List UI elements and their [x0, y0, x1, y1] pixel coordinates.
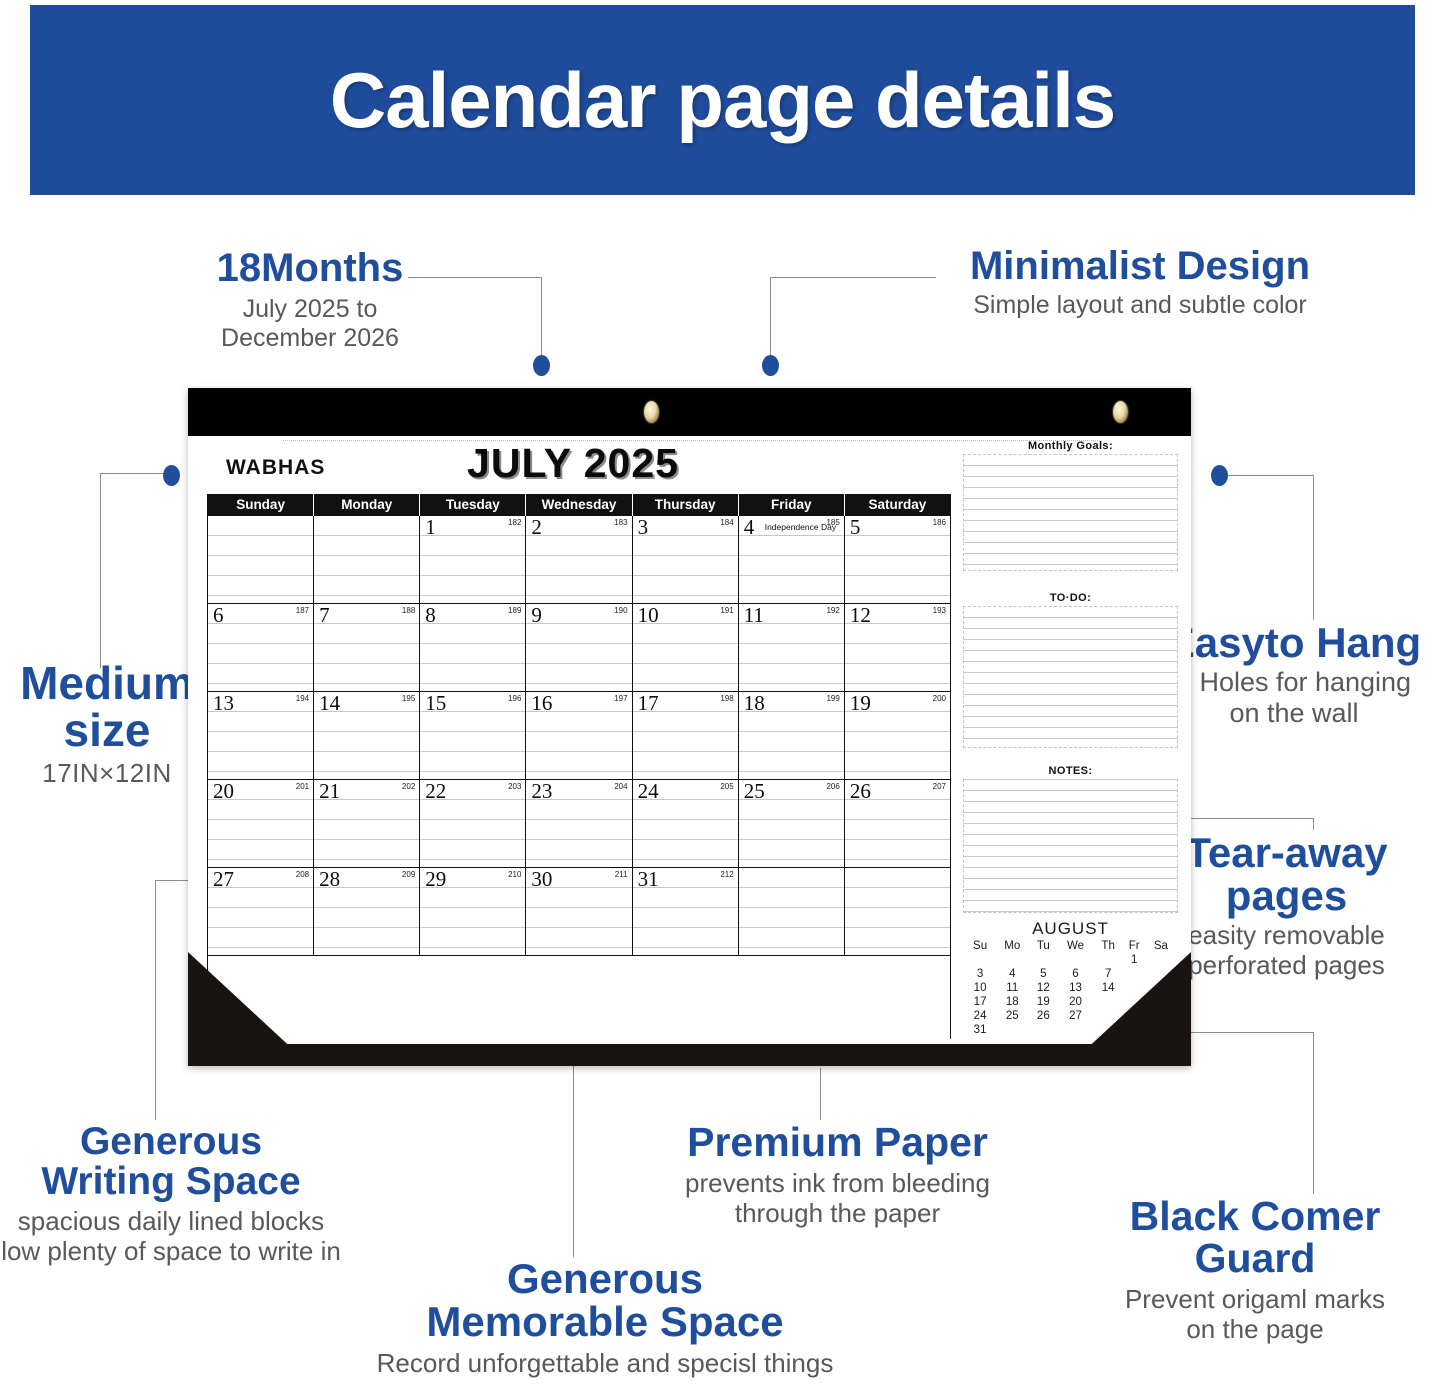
calendar-day-cell-30[interactable]: 30211 — [526, 868, 632, 955]
callout-minimalist-design: Minimalist Design Simple layout and subt… — [900, 246, 1380, 320]
mini-calendar-day-4: 4 — [995, 967, 1029, 981]
calendar-day-number: 7 — [319, 605, 330, 626]
calendar-julian-day-number: 206 — [826, 782, 839, 791]
leader-line-corner-v — [1313, 1032, 1314, 1194]
calendar-sheet: WABHAS JULY 2025 Sunday Monday Tuesday W… — [188, 388, 1191, 1066]
calendar-julian-day-number: 182 — [508, 518, 521, 527]
calendar-day-cell-7[interactable]: 7188 — [314, 604, 420, 691]
month-grid: Sunday Monday Tuesday Wednesday Thursday… — [207, 494, 951, 1039]
calendar-day-number: 15 — [425, 693, 446, 714]
mini-calendar-weekday-tu: Tu — [1029, 939, 1057, 953]
calendar-day-number: 10 — [638, 605, 659, 626]
calendar-day-cell-empty[interactable] — [208, 516, 314, 603]
callout-corner-heading: Black ComerGuard — [1065, 1196, 1445, 1280]
calendar-week-row: 1182218331844185Independence Day5186 — [208, 516, 950, 604]
weekday-header-wednesday: Wednesday — [526, 494, 632, 516]
mini-calendar-day-12: 12 — [1029, 981, 1057, 995]
calendar-day-number: 1 — [425, 517, 436, 538]
calendar-julian-day-number: 197 — [614, 694, 627, 703]
calendar-day-cell-10[interactable]: 10191 — [633, 604, 739, 691]
calendar-julian-day-number: 203 — [508, 782, 521, 791]
calendar-day-cell-31[interactable]: 31212 — [633, 868, 739, 955]
todo-label: TO·DO: — [963, 592, 1178, 604]
calendar-julian-day-number: 211 — [615, 870, 628, 879]
leader-line-writing-v — [155, 880, 156, 1120]
monthly-goals-section: Monthly Goals: — [963, 440, 1178, 571]
calendar-day-number: 23 — [531, 781, 552, 802]
calendar-day-cell-3[interactable]: 3184 — [633, 516, 739, 603]
leader-line-tear-v — [1313, 818, 1314, 830]
mini-calendar-day-empty — [995, 953, 1029, 967]
calendar-day-cell-empty[interactable] — [845, 868, 950, 955]
leader-line-hang-v — [1313, 475, 1314, 620]
weekday-header-tuesday: Tuesday — [420, 494, 526, 516]
callout-memorable-subtext: Record unforgettable and specisl things — [340, 1348, 870, 1378]
callout-black-corner-guard: Black ComerGuard Prevent origaml markson… — [1065, 1196, 1445, 1344]
page-title: Calendar page details — [330, 61, 1115, 139]
mini-calendar-day-5: 5 — [1029, 967, 1057, 981]
leader-line-hang-h — [1228, 475, 1314, 476]
hanging-hole-grommet-right — [1113, 401, 1128, 423]
calendar-day-cell-23[interactable]: 23204 — [526, 780, 632, 867]
mini-calendar-weekday-fr: Fr — [1123, 939, 1146, 953]
monthly-goals-writing-area[interactable] — [963, 454, 1178, 571]
calendar-day-number: 30 — [531, 869, 552, 890]
calendar-day-cell-20[interactable]: 20201 — [208, 780, 314, 867]
callout-writing-subtext: spacious daily lined blockslow plenty of… — [0, 1206, 356, 1266]
calendar-julian-day-number: 212 — [720, 870, 733, 879]
mini-calendar-day-empty — [995, 1023, 1029, 1037]
callout-memorable-heading: GenerousMemorable Space — [340, 1258, 870, 1344]
callout-premium-paper: Premium Paper prevents ink from bleeding… — [625, 1122, 1050, 1228]
calendar-day-cell-empty[interactable] — [314, 516, 420, 603]
leader-dot-hang-top — [1211, 465, 1228, 486]
leader-line-premium-v — [820, 1068, 821, 1120]
calendar-day-cell-14[interactable]: 14195 — [314, 692, 420, 779]
mini-calendar-day-24: 24 — [965, 1009, 995, 1023]
calendar-day-number: 8 — [425, 605, 436, 626]
calendar-day-cell-empty[interactable] — [739, 868, 845, 955]
calendar-julian-day-number: 207 — [933, 782, 946, 791]
calendar-day-cell-4[interactable]: 4185Independence Day — [739, 516, 845, 603]
mini-calendar-weekday-we: We — [1057, 939, 1094, 953]
calendar-julian-day-number: 189 — [508, 606, 521, 615]
calendar-day-cell-15[interactable]: 15196 — [420, 692, 526, 779]
calendar-day-cell-27[interactable]: 27208 — [208, 868, 314, 955]
calendar-top-black-band — [188, 388, 1191, 436]
callout-premium-subtext: prevents ink from bleedingthrough the pa… — [625, 1168, 1050, 1228]
mini-calendar-day-empty — [1029, 1023, 1057, 1037]
calendar-week-rows: 1182218331844185Independence Day51866187… — [208, 516, 950, 956]
mini-calendar-weekday-th: Th — [1094, 939, 1123, 953]
weekday-header-saturday: Saturday — [845, 494, 950, 516]
calendar-julian-day-number: 198 — [720, 694, 733, 703]
callout-generous-memorable-space: GenerousMemorable Space Record unforgett… — [340, 1258, 870, 1378]
calendar-julian-day-number: 192 — [826, 606, 839, 615]
calendar-day-number: 4 — [744, 517, 755, 538]
calendar-day-number: 9 — [531, 605, 542, 626]
calendar-day-number: 20 — [213, 781, 234, 802]
calendar-day-cell-1[interactable]: 1182 — [420, 516, 526, 603]
calendar-julian-day-number: 183 — [614, 518, 627, 527]
calendar-julian-day-number: 187 — [296, 606, 309, 615]
calendar-julian-day-number: 210 — [508, 870, 521, 879]
calendar-day-cell-19[interactable]: 19200 — [845, 692, 950, 779]
calendar-day-number: 11 — [744, 605, 764, 626]
calendar-julian-day-number: 193 — [933, 606, 946, 615]
calendar-julian-day-number: 201 — [296, 782, 309, 791]
calendar-julian-day-number: 184 — [720, 518, 733, 527]
calendar-day-number: 22 — [425, 781, 446, 802]
calendar-day-number: 28 — [319, 869, 340, 890]
leader-line-medium-v — [100, 473, 101, 668]
calendar-day-number: 6 — [213, 605, 224, 626]
calendar-day-cell-28[interactable]: 28209 — [314, 868, 420, 955]
calendar-julian-day-number: 200 — [933, 694, 946, 703]
calendar-day-cell-2[interactable]: 2183 — [526, 516, 632, 603]
notes-writing-area[interactable] — [963, 779, 1178, 913]
mini-calendar-header-row: SuMoTuWeThFrSa — [965, 939, 1176, 953]
calendar-day-number: 25 — [744, 781, 765, 802]
calendar-day-cell-18[interactable]: 18199 — [739, 692, 845, 779]
mini-calendar-day-17: 17 — [965, 995, 995, 1009]
calendar-julian-day-number: 186 — [933, 518, 946, 527]
calendar-day-cell-16[interactable]: 16197 — [526, 692, 632, 779]
notes-label: NOTES: — [963, 765, 1178, 777]
calendar-julian-day-number: 196 — [508, 694, 521, 703]
calendar-julian-day-number: 199 — [826, 694, 839, 703]
calendar-holiday-label: Independence Day — [765, 522, 836, 532]
calendar-day-cell-21[interactable]: 21202 — [314, 780, 420, 867]
calendar-week-row: 2720828209292103021131212 — [208, 868, 950, 956]
calendar-day-cell-5[interactable]: 5186 — [845, 516, 950, 603]
calendar-bottom-black-band — [188, 1044, 1191, 1066]
calendar-julian-day-number: 208 — [296, 870, 309, 879]
calendar-julian-day-number: 205 — [720, 782, 733, 791]
month-title: JULY 2025 — [188, 440, 958, 487]
callout-18months: 18Months July 2025 toDecember 2026 — [160, 248, 460, 353]
calendar-day-number: 26 — [850, 781, 871, 802]
mini-calendar-day-empty — [965, 953, 995, 967]
callout-minimalist-subtext: Simple layout and subtle color — [900, 291, 1380, 320]
callout-minimalist-heading: Minimalist Design — [900, 246, 1380, 287]
leader-line-minimalist-v — [770, 277, 771, 362]
calendar-day-number: 31 — [638, 869, 659, 890]
calendar-week-row: 6187718881899190101911119212193 — [208, 604, 950, 692]
mini-calendar-day-26: 26 — [1029, 1009, 1057, 1023]
todo-section: TO·DO: — [963, 592, 1178, 748]
mini-calendar-day-10: 10 — [965, 981, 995, 995]
calendar-julian-day-number: 209 — [402, 870, 415, 879]
mini-calendar-day-11: 11 — [995, 981, 1029, 995]
calendar-day-cell-11[interactable]: 11192 — [739, 604, 845, 691]
leader-dot-18months — [533, 355, 550, 376]
calendar-day-number: 5 — [850, 517, 861, 538]
calendar-day-cell-12[interactable]: 12193 — [845, 604, 950, 691]
calendar-day-number: 27 — [213, 869, 234, 890]
leader-line-18months-h — [408, 277, 541, 278]
callout-18months-heading: 18Months — [160, 248, 460, 289]
weekday-header-monday: Monday — [314, 494, 420, 516]
weekday-header-friday: Friday — [739, 494, 845, 516]
calendar-day-number: 16 — [531, 693, 552, 714]
calendar-day-cell-25[interactable]: 25206 — [739, 780, 845, 867]
calendar-day-number: 29 — [425, 869, 446, 890]
calendar-week-row: 20201212022220323204242052520626207 — [208, 780, 950, 868]
mini-calendar-weekday-su: Su — [965, 939, 995, 953]
calendar-day-number: 3 — [638, 517, 649, 538]
weekday-header-row: Sunday Monday Tuesday Wednesday Thursday… — [208, 494, 950, 516]
calendar-day-number: 17 — [638, 693, 659, 714]
hanging-hole-grommet-left — [644, 401, 659, 423]
notes-section: NOTES: — [963, 765, 1178, 913]
black-corner-guard-left — [188, 952, 311, 1066]
calendar-day-cell-13[interactable]: 13194 — [208, 692, 314, 779]
weekday-header-thursday: Thursday — [633, 494, 739, 516]
calendar-week-row: 13194141951519616197171981819919200 — [208, 692, 950, 780]
mini-calendar-day-empty — [1029, 953, 1057, 967]
callout-generous-writing-space: GenerousWriting Space spacious daily lin… — [0, 1122, 356, 1266]
monthly-goals-label: Monthly Goals: — [963, 440, 1178, 452]
leader-dot-minimalist — [762, 355, 779, 376]
mini-calendar-day-25: 25 — [995, 1009, 1029, 1023]
mini-calendar-title: AUGUST — [965, 920, 1176, 938]
calendar-day-number: 14 — [319, 693, 340, 714]
calendar-julian-day-number: 194 — [296, 694, 309, 703]
callout-premium-heading: Premium Paper — [625, 1122, 1050, 1164]
todo-writing-area[interactable] — [963, 606, 1178, 748]
mini-calendar-weekday-mo: Mo — [995, 939, 1029, 953]
calendar-day-cell-29[interactable]: 29210 — [420, 868, 526, 955]
calendar-julian-day-number: 195 — [402, 694, 415, 703]
calendar-julian-day-number: 204 — [614, 782, 627, 791]
calendar-day-number: 2 — [531, 517, 542, 538]
calendar-page-body: WABHAS JULY 2025 Sunday Monday Tuesday W… — [188, 436, 1191, 1066]
calendar-day-cell-17[interactable]: 17198 — [633, 692, 739, 779]
calendar-day-cell-24[interactable]: 24205 — [633, 780, 739, 867]
calendar-day-number: 24 — [638, 781, 659, 802]
calendar-day-number: 12 — [850, 605, 871, 626]
mini-calendar-day-31: 31 — [965, 1023, 995, 1037]
calendar-day-cell-8[interactable]: 8189 — [420, 604, 526, 691]
calendar-day-cell-26[interactable]: 26207 — [845, 780, 950, 867]
weekday-header-sunday: Sunday — [208, 494, 314, 516]
callout-corner-subtext: Prevent origaml markson the page — [1065, 1284, 1445, 1344]
black-corner-guard-right — [1068, 952, 1191, 1066]
leader-dot-medium — [163, 465, 180, 486]
calendar-side-panel: Monthly Goals: TO·DO: NOTES: AUGUST SuMo… — [963, 440, 1178, 1040]
calendar-day-number: 21 — [319, 781, 340, 802]
calendar-day-cell-6[interactable]: 6187 — [208, 604, 314, 691]
calendar-day-number: 19 — [850, 693, 871, 714]
callout-writing-heading: GenerousWriting Space — [0, 1122, 356, 1202]
mini-calendar-day-19: 19 — [1029, 995, 1057, 1009]
mini-calendar-weekday-sa: Sa — [1146, 939, 1176, 953]
leader-line-minimalist-h — [770, 277, 936, 278]
mini-calendar-day-3: 3 — [965, 967, 995, 981]
calendar-day-number: 13 — [213, 693, 234, 714]
calendar-julian-day-number: 190 — [614, 606, 627, 615]
leader-line-18months-v — [541, 277, 542, 362]
calendar-julian-day-number: 188 — [402, 606, 415, 615]
page-banner: Calendar page details — [30, 5, 1415, 195]
calendar-day-cell-22[interactable]: 22203 — [420, 780, 526, 867]
calendar-julian-day-number: 202 — [402, 782, 415, 791]
mini-calendar-day-18: 18 — [995, 995, 1029, 1009]
callout-18months-subtext: July 2025 toDecember 2026 — [160, 295, 460, 353]
calendar-julian-day-number: 191 — [720, 606, 733, 615]
calendar-day-cell-9[interactable]: 9190 — [526, 604, 632, 691]
leader-line-medium-h — [100, 473, 168, 474]
calendar-day-number: 18 — [744, 693, 765, 714]
